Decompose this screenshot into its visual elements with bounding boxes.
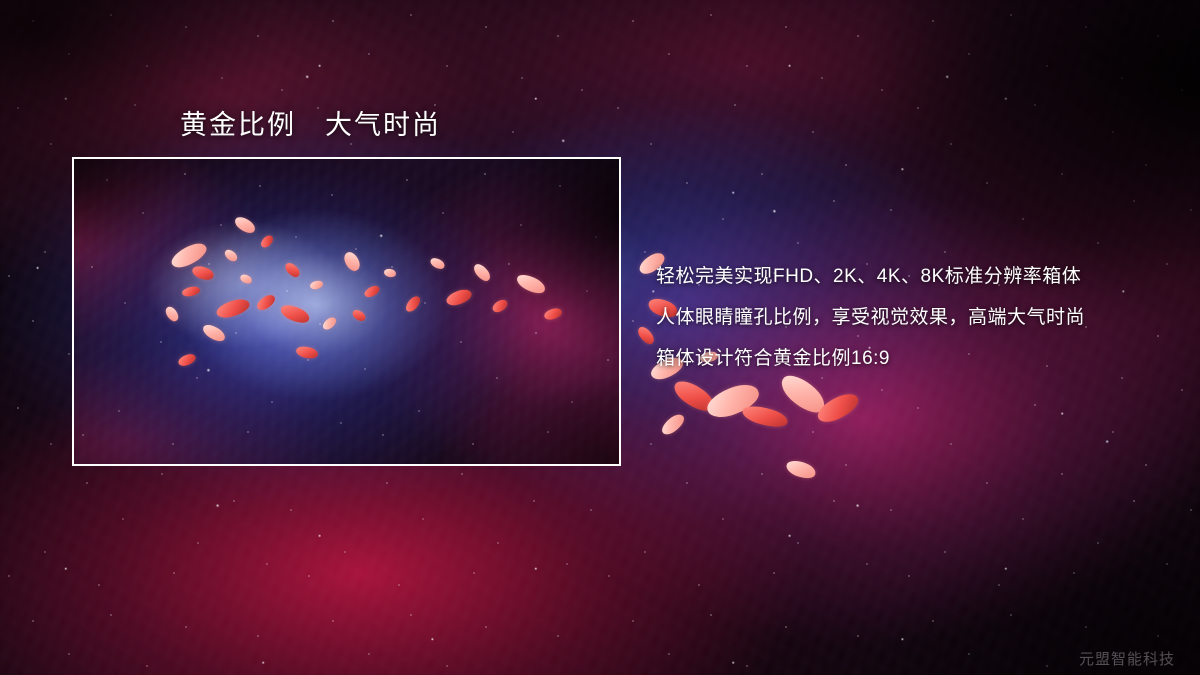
body-line-1: 轻松完美实现FHD、2K、4K、8K标准分辨率箱体 [656,256,1085,297]
body-line-3: 箱体设计符合黄金比例16:9 [656,338,1085,379]
flower-petal [659,411,687,438]
flower-petal [814,389,862,427]
flower-petal [670,376,718,416]
flower-petal [703,379,763,423]
flower-petal [784,458,817,482]
photo-vignette [74,159,619,464]
galaxy-photo-frame [72,157,621,466]
body-copy: 轻松完美实现FHD、2K、4K、8K标准分辨率箱体 人体眼睛瞳孔比例，享受视觉效… [656,256,1085,379]
presentation-slide: 黄金比例 大气时尚 轻松完美实现FHD、2K、4K、8K标准分辨率箱体 人体眼睛… [0,0,1200,675]
body-line-2: 人体眼睛瞳孔比例，享受视觉效果，高端大气时尚 [656,297,1085,338]
flower-petal [741,403,790,431]
page-title: 黄金比例 大气时尚 [180,103,441,142]
watermark: 元盟智能科技 [1079,648,1175,669]
galaxy-photo-image [74,159,619,464]
flower-petal [635,324,656,346]
